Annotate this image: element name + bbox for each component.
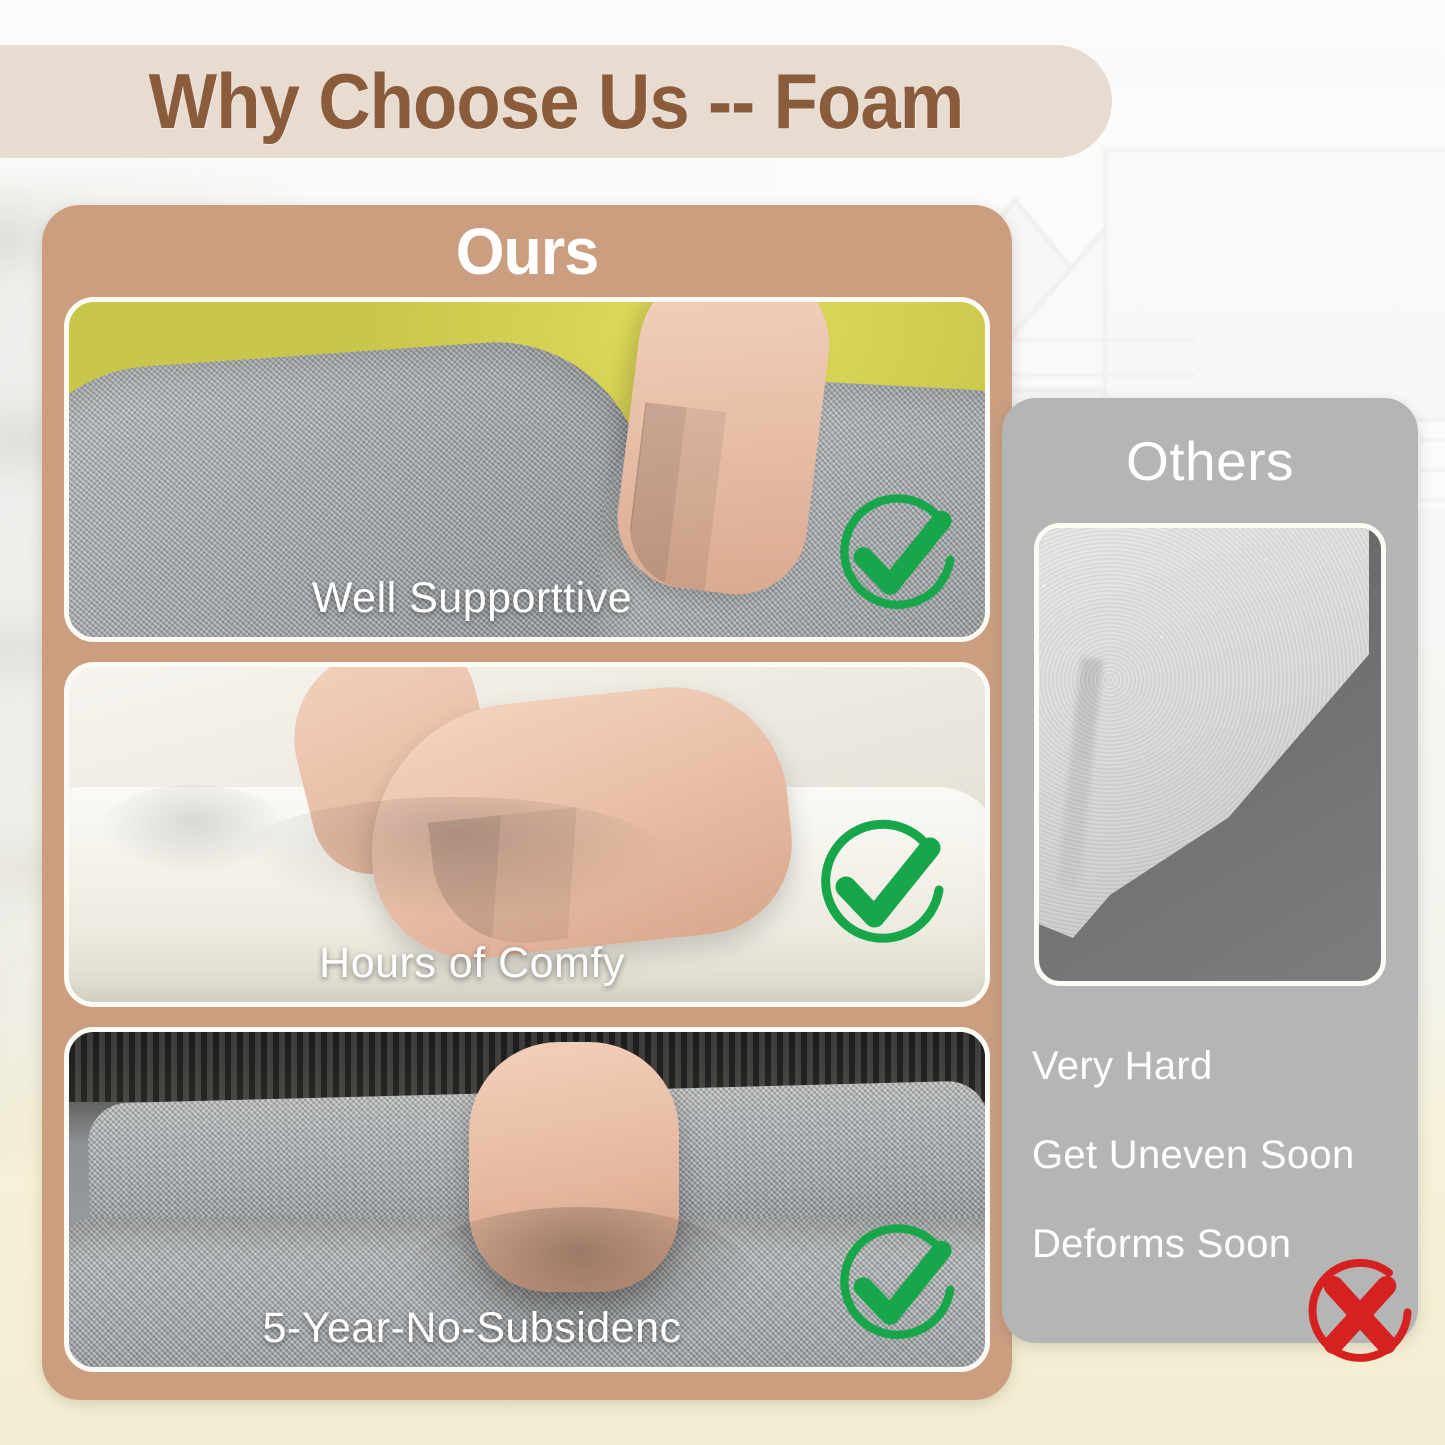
green-check-icon [827, 1217, 967, 1357]
ours-card-hours-of-comfy[interactable]: Hours of Comfy [64, 662, 990, 1007]
ours-card-list: Well Supporttive Hours of Comfy [64, 297, 990, 1372]
others-panel: Others Very Hard Get Uneven Soon Deforms… [1002, 398, 1418, 1343]
foam-dimple-primary [239, 797, 669, 917]
ours-card-no-subsidence[interactable]: 5-Year-No-Subsidenc [64, 1027, 990, 1372]
green-check-icon [827, 487, 967, 627]
list-item: Very Hard [1032, 1044, 1398, 1089]
header-banner: Why Choose Us -- Foam [0, 45, 1112, 158]
page-title: Why Choose Us -- Foam [149, 56, 964, 147]
green-check-icon [807, 812, 957, 962]
infographic-canvas: Why Choose Us -- Foam Ours Well Supportt… [0, 0, 1445, 1445]
list-item: Get Uneven Soon [1032, 1133, 1398, 1178]
red-cross-icon [1294, 1249, 1426, 1381]
others-title: Others [1022, 398, 1398, 523]
ours-title: Ours [87, 205, 967, 297]
others-drawback-list: Very Hard Get Uneven Soon Deforms Soon [1022, 1044, 1398, 1267]
ours-card-well-supportive[interactable]: Well Supporttive [64, 297, 990, 642]
ours-panel: Ours Well Supporttive [42, 205, 1012, 1400]
others-foam-photo[interactable] [1034, 523, 1386, 986]
